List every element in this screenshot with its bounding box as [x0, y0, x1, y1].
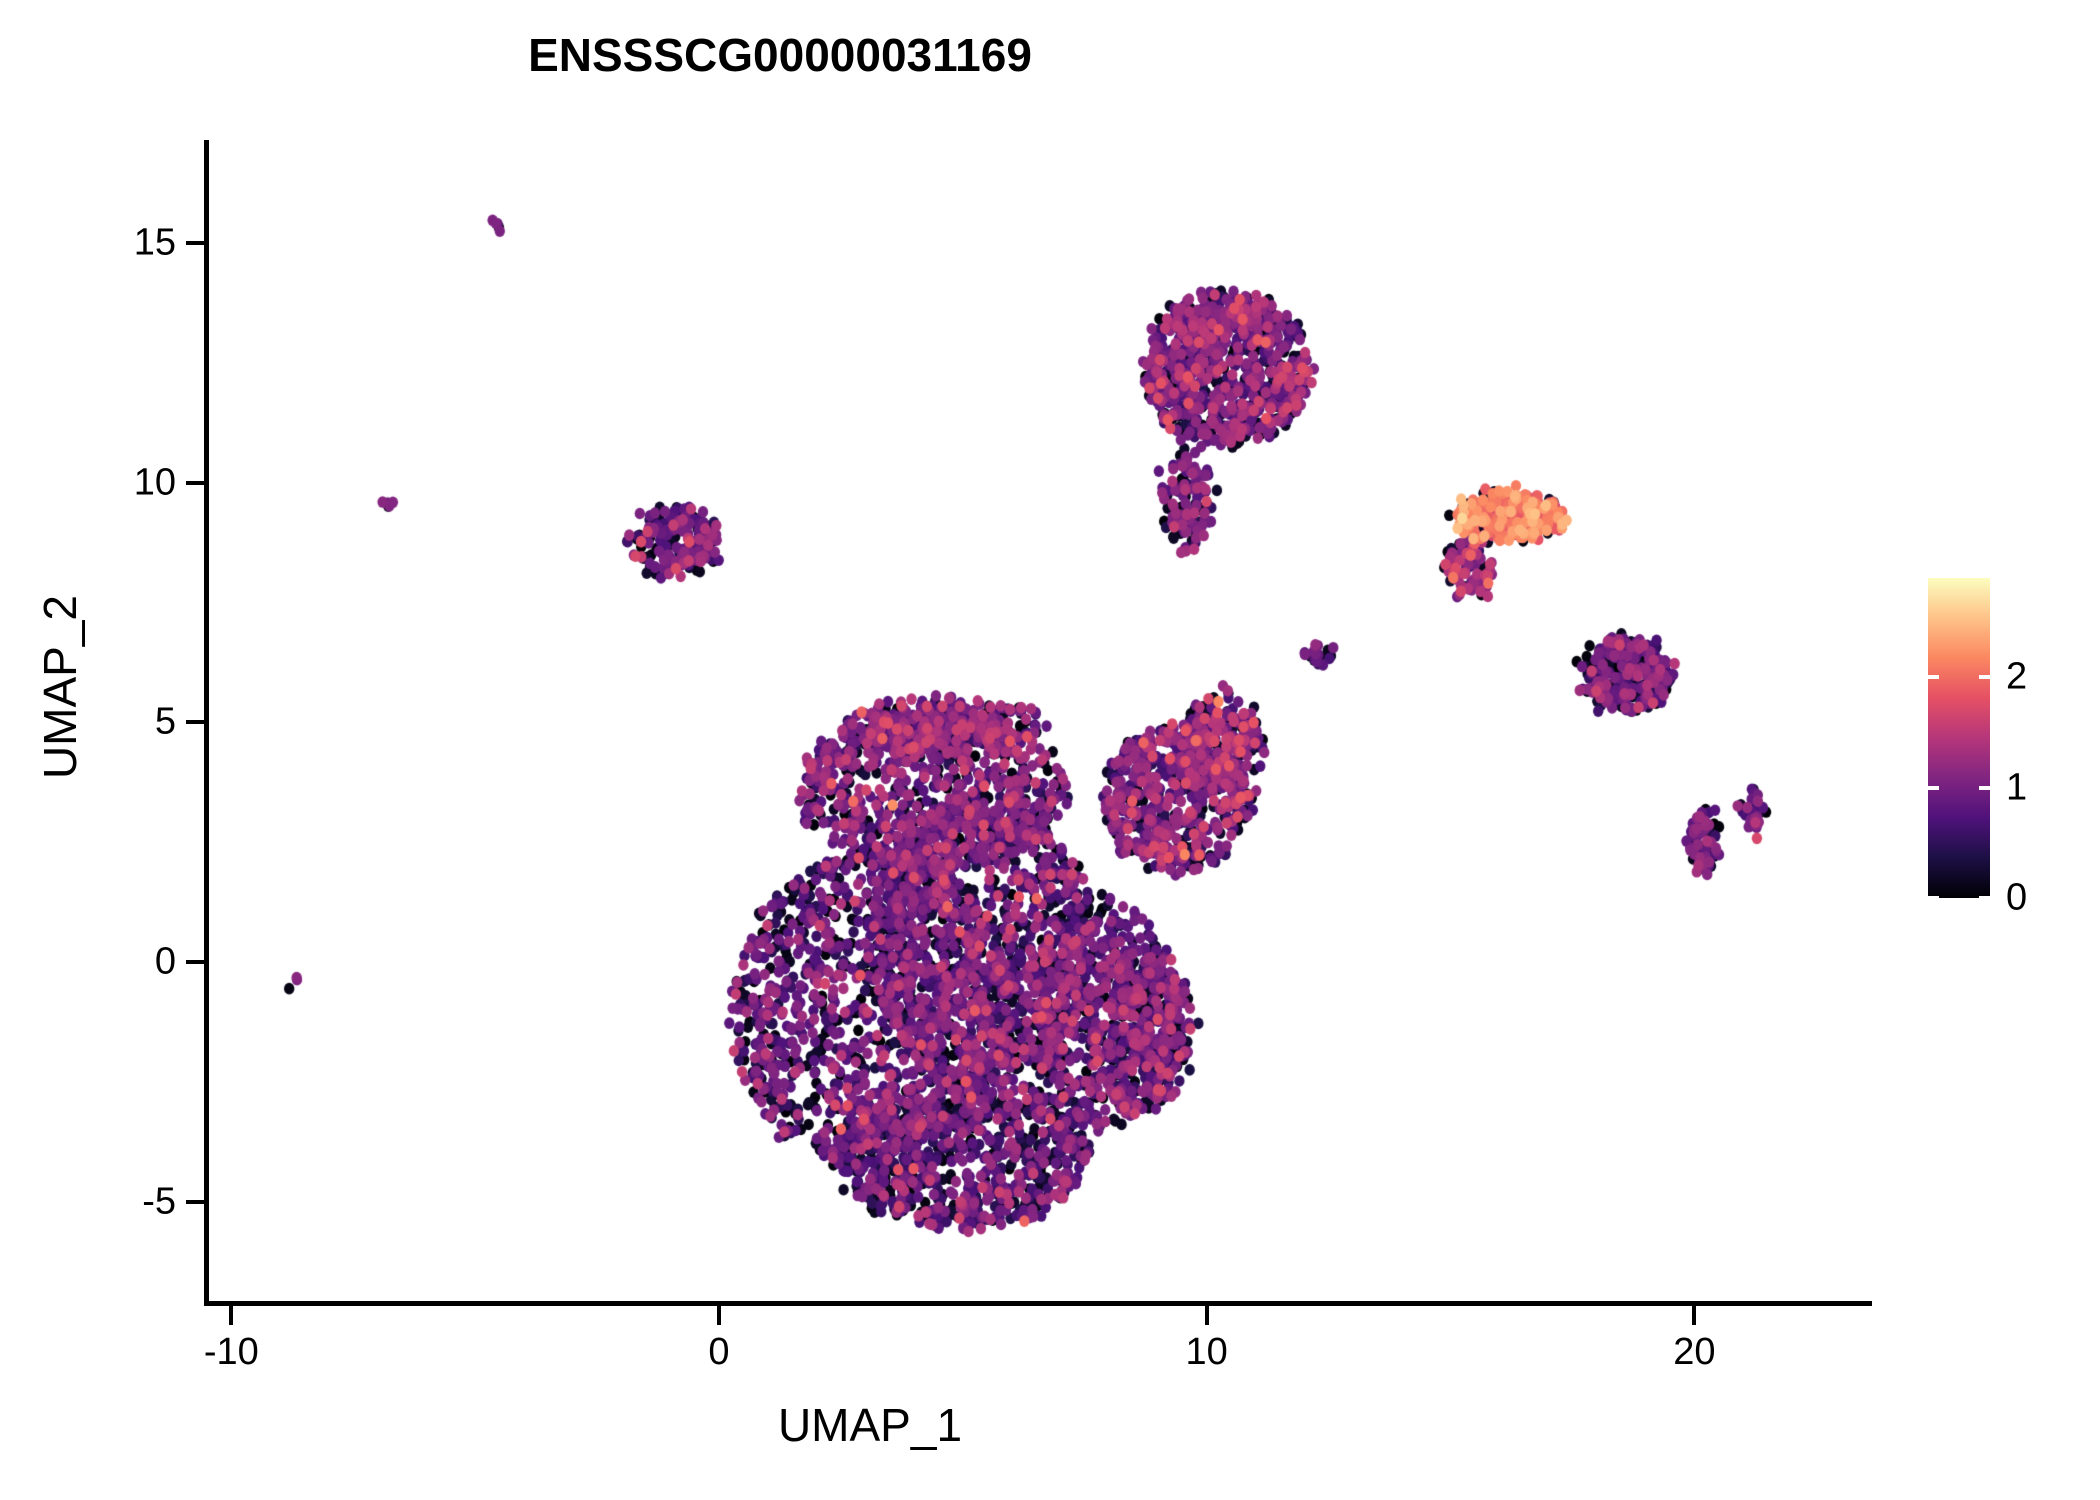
colorbar-tick-mark	[1979, 896, 1990, 900]
x-tick-label: 10	[1127, 1331, 1287, 1374]
x-tick-mark	[1205, 1306, 1209, 1325]
colorbar-tick-label: 0	[2006, 877, 2027, 920]
y-tick-mark	[186, 1200, 205, 1204]
x-tick-mark	[717, 1306, 721, 1325]
chart-root: ENSSSCG00000031169 -5051015 -1001020 UMA…	[0, 0, 2100, 1500]
colorbar-tick-mark	[1979, 675, 1990, 679]
y-tick-mark	[186, 720, 205, 724]
y-axis-title: UMAP_2	[33, 337, 87, 1037]
y-tick-mark	[186, 960, 205, 964]
colorbar-tick-mark	[1928, 675, 1939, 679]
x-tick-mark	[1692, 1306, 1696, 1325]
y-tick-mark	[186, 481, 205, 485]
y-tick-label: 15	[56, 222, 176, 265]
colorbar-tick-label: 2	[2006, 656, 2027, 699]
colorbar-legend: 012	[1928, 578, 2088, 898]
x-tick-label: -10	[151, 1331, 311, 1374]
y-tick-label: -5	[56, 1180, 176, 1223]
y-tick-mark	[186, 241, 205, 245]
scatter-points-canvas	[208, 140, 1870, 1303]
x-tick-label: 20	[1614, 1331, 1774, 1374]
x-axis-title: UMAP_1	[0, 1398, 2100, 1452]
colorbar-tick-mark	[1979, 786, 1990, 790]
scatter-plot-panel	[208, 140, 1870, 1303]
x-axis-line	[204, 1301, 1872, 1306]
x-tick-mark	[229, 1306, 233, 1325]
colorbar-tick-mark	[1928, 786, 1939, 790]
colorbar-tick-mark	[1928, 896, 1939, 900]
colorbar-gradient	[1928, 578, 1990, 898]
page-title: ENSSSCG00000031169	[0, 28, 1560, 82]
colorbar-tick-label: 1	[2006, 766, 2027, 809]
x-tick-label: 0	[639, 1331, 799, 1374]
